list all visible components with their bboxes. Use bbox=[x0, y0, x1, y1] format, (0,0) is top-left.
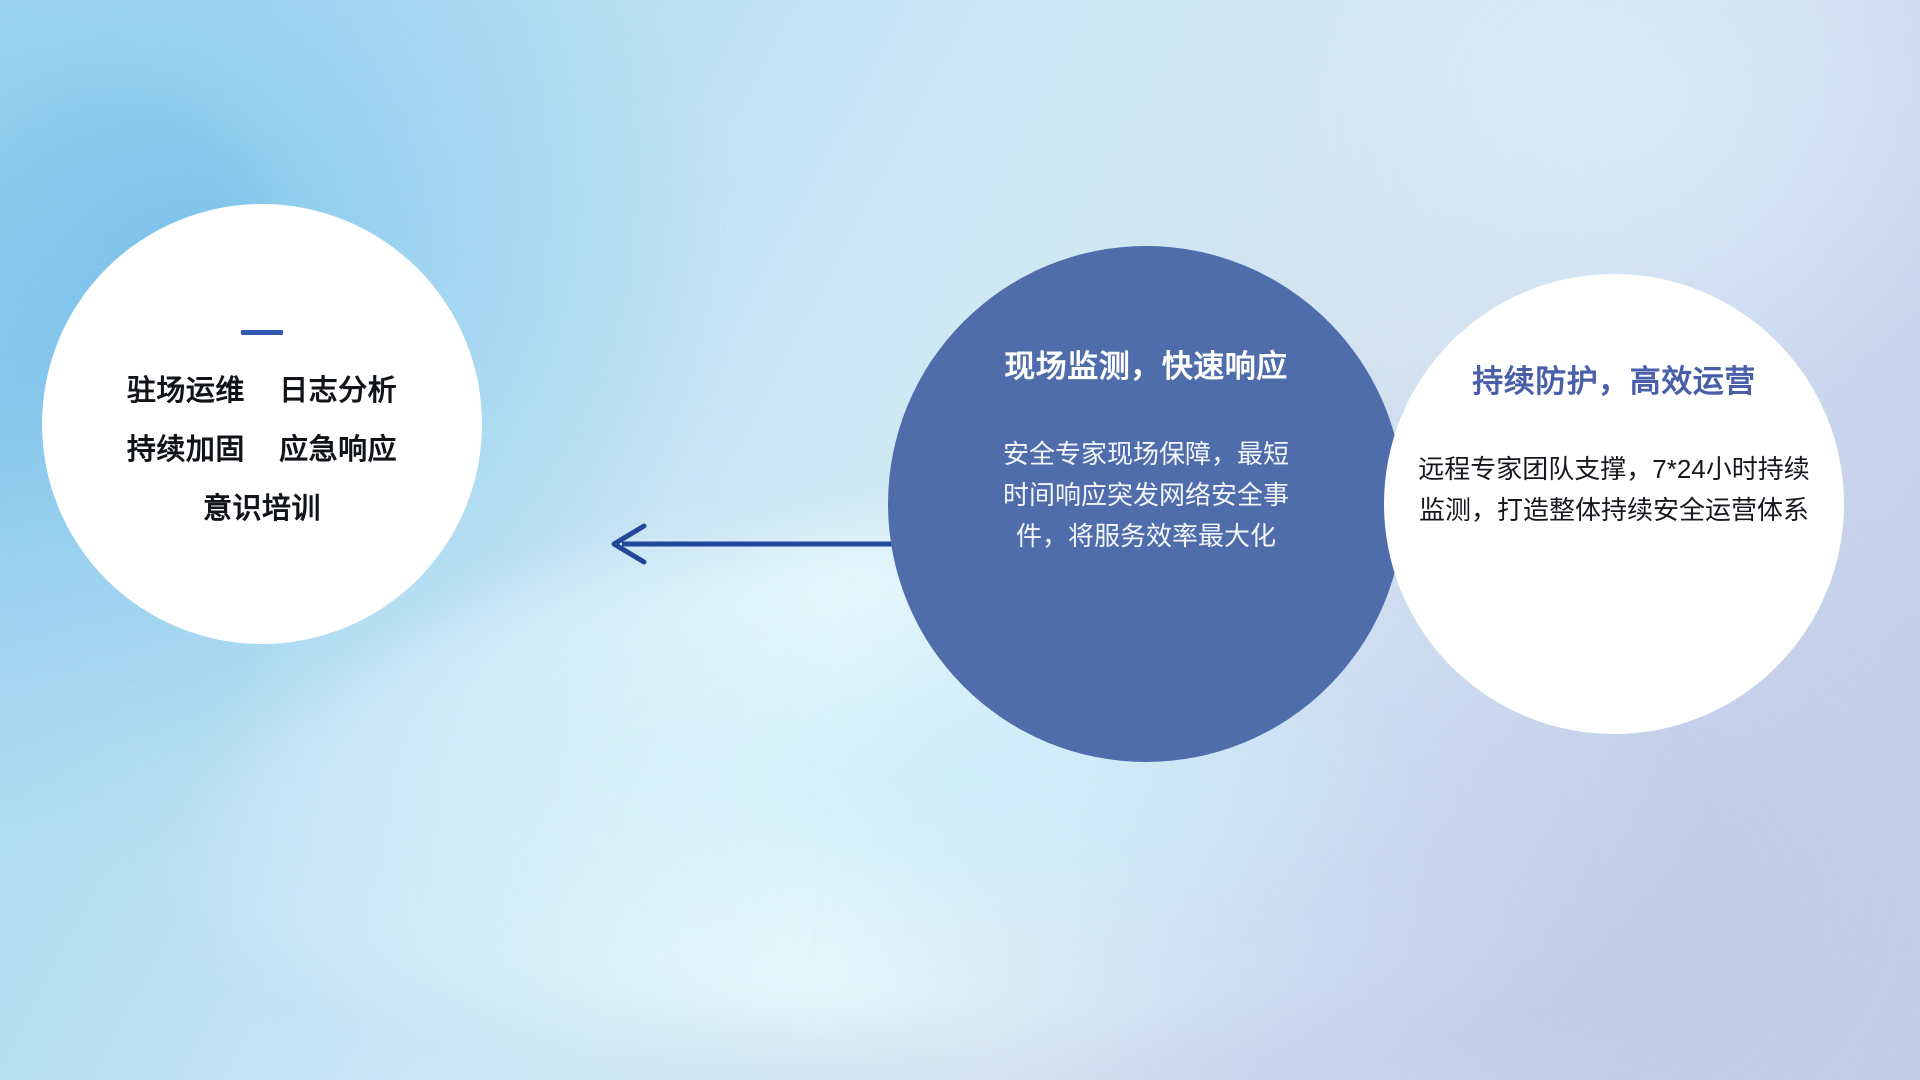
arrow-left-icon bbox=[600, 520, 900, 568]
onsite-monitoring-body: 安全专家现场保障，最短时间响应突发网络安全事件，将服务效率最大化 bbox=[996, 434, 1296, 557]
continuous-protection-body: 远程专家团队支撑，7*24小时持续监测，打造整体持续安全运营体系 bbox=[1412, 449, 1816, 531]
capability-line-1: 驻场运维 日志分析 bbox=[127, 377, 397, 406]
onsite-monitoring-circle[interactable]: 现场监测，快速响应 安全专家现场保障，最短时间响应突发网络安全事件，将服务效率最… bbox=[888, 246, 1404, 762]
horizontal-dash-icon bbox=[241, 330, 283, 335]
capability-line-2: 持续加固 应急响应 bbox=[127, 436, 397, 465]
capability-line-3: 意识培训 bbox=[203, 495, 321, 524]
continuous-protection-circle[interactable]: 持续防护，高效运营 远程专家团队支撑，7*24小时持续监测，打造整体持续安全运营… bbox=[1384, 274, 1844, 734]
capabilities-circle[interactable]: 驻场运维 日志分析 持续加固 应急响应 意识培训 bbox=[42, 204, 482, 644]
continuous-protection-title: 持续防护，高效运营 bbox=[1472, 366, 1756, 397]
onsite-monitoring-title: 现场监测，快速响应 bbox=[1004, 351, 1288, 382]
arrow-left-connector bbox=[600, 520, 900, 568]
slide-canvas: 驻场运维 日志分析 持续加固 应急响应 意识培训 现场监测，快速响应 安全专家现… bbox=[0, 0, 1920, 1080]
